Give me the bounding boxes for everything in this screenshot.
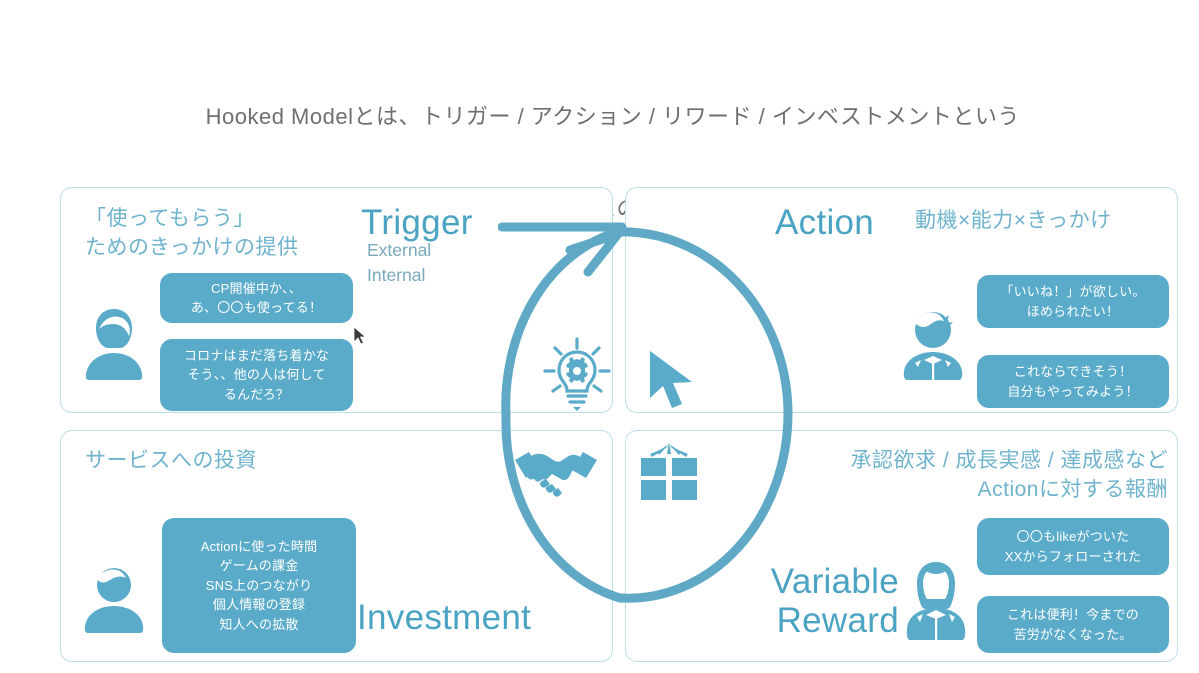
circular-loop-arrow-icon [448,206,808,616]
speech-bubble: 「いいね！」が欲しい。 ほめられたい！ [977,275,1169,328]
speech-bubble: CP開催中か、、 あ、〇〇も使ってる！ [160,273,353,323]
investment-heading-jp: サービスへの投資 [85,447,257,476]
trigger-subtitle: External Internal [367,238,431,288]
gift-box-icon [637,440,701,504]
trigger-title: Trigger [361,203,473,242]
mouse-cursor-icon [645,348,701,412]
female-avatar-icon [905,560,967,640]
speech-bubble: コロナはまだ落ち着かな そう、、他の人は何して るんだろ？ [160,339,353,411]
header-line-1: Hooked Modelとは、トリガー / アクション / リワード / インベ… [206,104,1020,129]
action-title: Action [775,203,874,242]
speech-bubble: これは便利！今までの 苦労がなくなった。 [977,596,1169,653]
mouse-pointer-artifact [353,326,367,346]
trigger-heading-jp: 「使ってもらう」 ためのきっかけの提供 [85,205,299,263]
lightbulb-gear-icon [537,333,617,413]
investment-title: Investment [357,598,531,637]
speech-bubble: これならできそう！ 自分もやってみよう！ [977,355,1169,408]
male-avatar-icon [903,308,963,384]
person-avatar-icon [83,565,145,637]
speech-bubble: 〇〇もlikeがついた XXからフォローされた [977,518,1169,575]
handshake-icon [513,444,599,504]
variable-reward-title: Variable Reward [757,562,899,640]
diagram-canvas: Hooked Modelとは、トリガー / アクション / リワード / インベ… [0,0,1199,673]
action-heading-jp: 動機×能力×きっかけ [915,207,1112,236]
speech-bubble: Actionに使った時間 ゲームの課金 SNS上のつながり 個人情報の登録 知人… [162,518,356,653]
variable-reward-heading-jp: 承認欲求 / 成長実感 / 達成感など Actionに対する報酬 [793,447,1168,505]
trigger-feeder-line [498,218,628,236]
female-avatar-icon [83,305,145,383]
